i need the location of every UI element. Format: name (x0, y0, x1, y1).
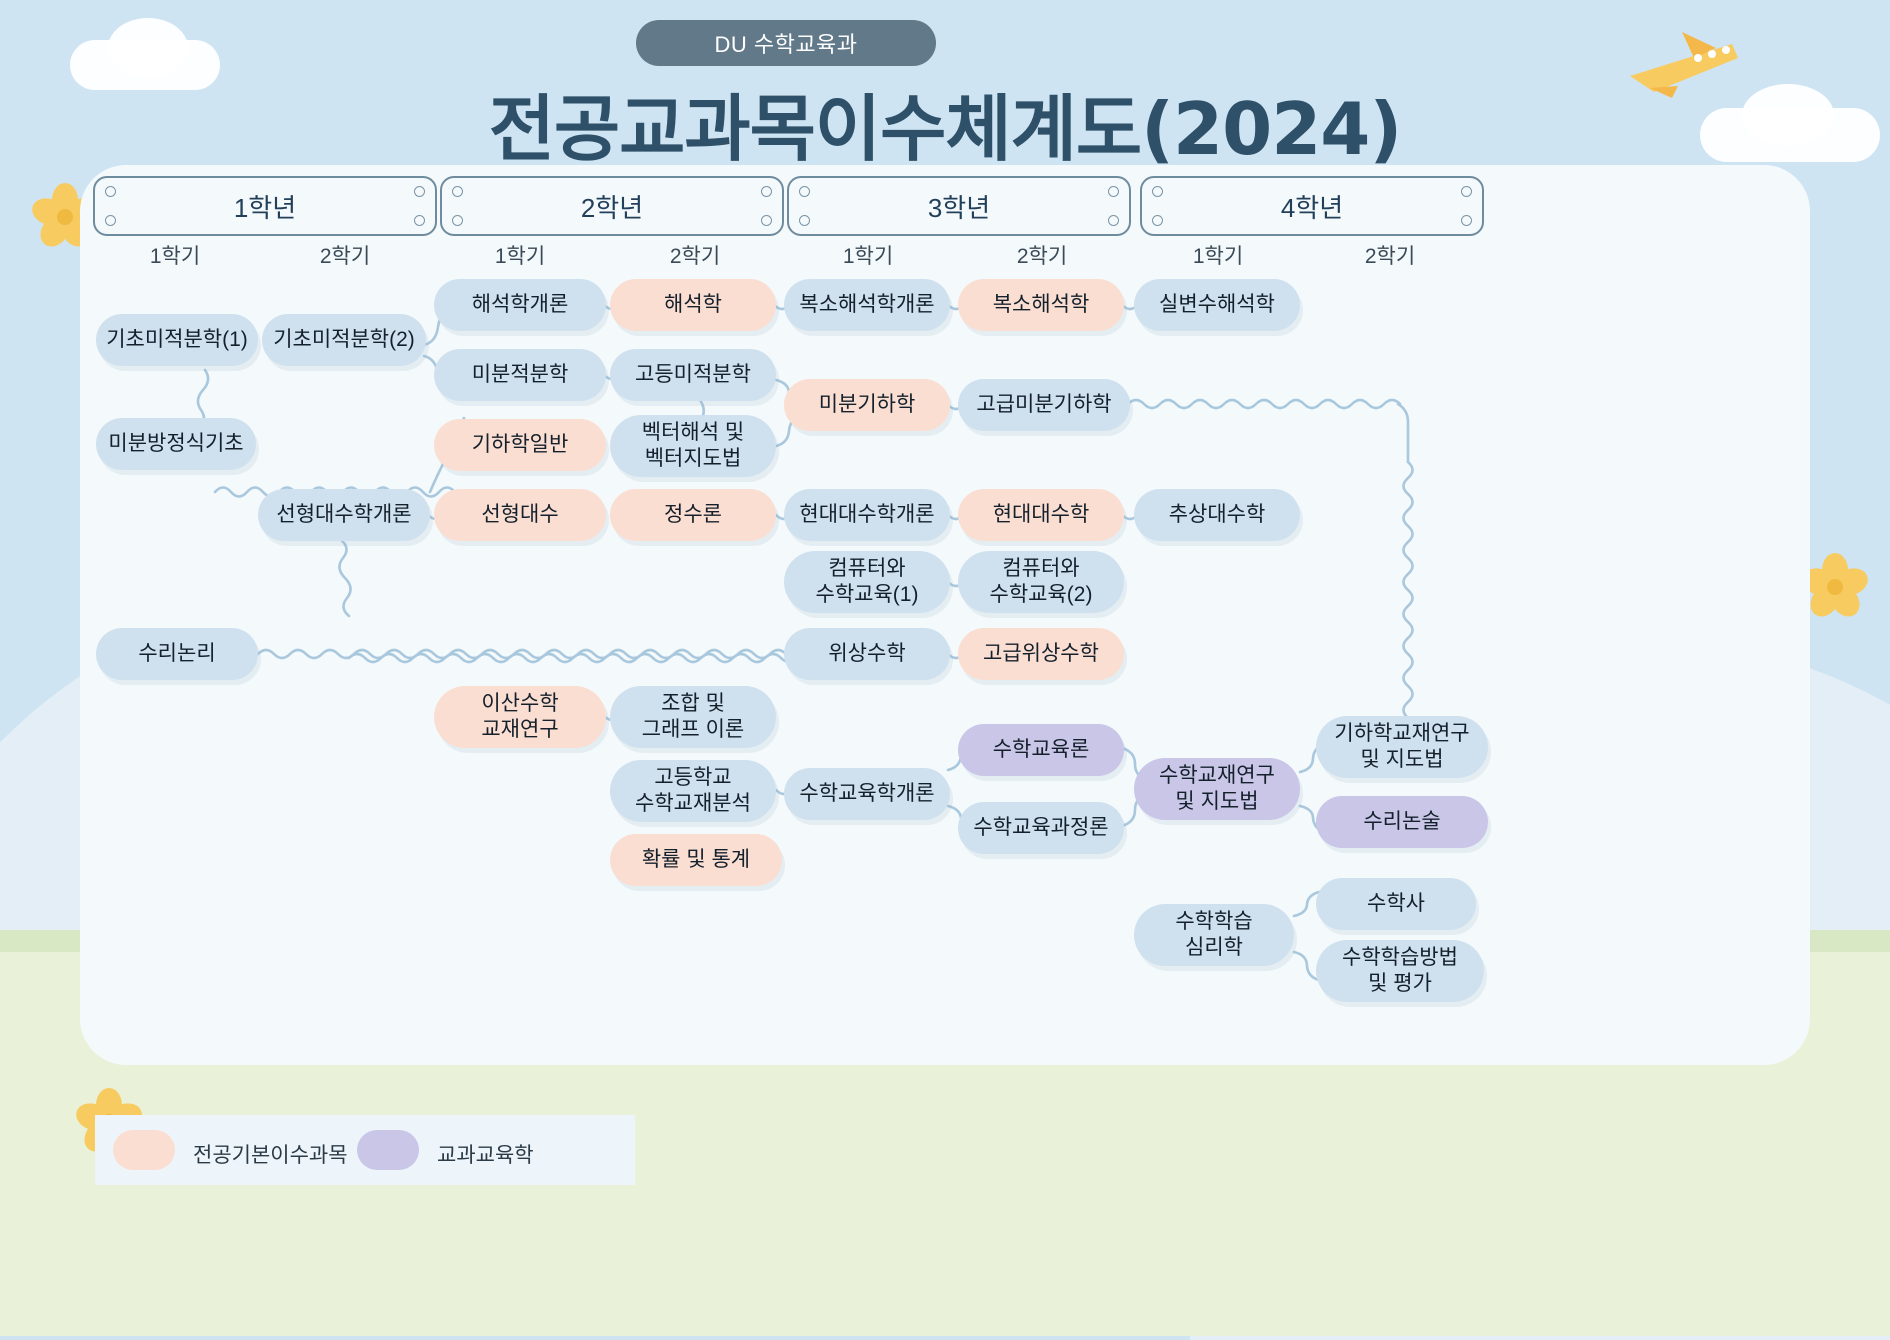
course-label: 조합 및 그래프 이론 (642, 691, 744, 742)
course-node[interactable]: 복소해석학개론 (784, 279, 950, 331)
course-label: 추상대수학 (1169, 502, 1266, 528)
course-label: 선형대수 (481, 502, 558, 528)
course-node[interactable]: 현대대수학개론 (784, 489, 950, 541)
course-node[interactable]: 기초미적분학(1) (96, 314, 258, 366)
course-node[interactable]: 선형대수학개론 (258, 489, 430, 541)
course-node[interactable]: 수학교육론 (958, 724, 1124, 776)
legend-label-pedagogy: 교과교육학 (437, 1139, 534, 1169)
course-label: 컴퓨터와 수학교육(2) (990, 556, 1093, 607)
course-label: 수학사 (1367, 891, 1425, 917)
course-label: 수학교육학개론 (799, 781, 934, 807)
course-node[interactable]: 확률 및 통계 (610, 834, 782, 886)
semester-label-1-2: 2학기 (275, 240, 415, 270)
course-node[interactable]: 수학사 (1316, 878, 1476, 930)
course-node[interactable]: 수리논술 (1316, 796, 1488, 848)
course-node[interactable]: 선형대수 (434, 489, 606, 541)
department-badge: DU 수학교육과 (636, 20, 936, 66)
course-node[interactable]: 고등학교 수학교재분석 (610, 760, 776, 822)
semester-label-3-1: 1학기 (798, 240, 938, 270)
year-box-1: 1학년 (93, 176, 437, 236)
semester-label-2-2: 2학기 (625, 240, 765, 270)
year-label: 4학년 (1281, 188, 1343, 225)
course-node[interactable]: 고급미분기하학 (958, 379, 1130, 431)
course-node[interactable]: 복소해석학 (958, 279, 1124, 331)
page-title: 전공교과목이수체계도(2024) (0, 70, 1890, 175)
course-label: 기하학교재연구 및 지도법 (1334, 721, 1469, 772)
legend-swatch-major-basic (113, 1130, 175, 1170)
course-label: 수학학습 심리학 (1175, 909, 1252, 960)
legend-label-major-basic: 전공기본이수과목 (193, 1139, 348, 1169)
semester-label-4-1: 1학기 (1148, 240, 1288, 270)
course-label: 고급위상수학 (983, 641, 1099, 667)
course-label: 해석학 (664, 292, 722, 318)
course-label: 수학교육과정론 (973, 815, 1108, 841)
course-label: 미분기하학 (819, 392, 916, 418)
course-node[interactable]: 이산수학 교재연구 (434, 686, 606, 748)
course-label: 미분적분학 (472, 362, 569, 388)
course-label: 수학교육론 (993, 737, 1090, 763)
course-node[interactable]: 미분기하학 (784, 379, 950, 431)
course-label: 미분방정식기초 (108, 431, 243, 457)
course-label: 현대대수학 (993, 502, 1090, 528)
course-label: 기초미적분학(2) (273, 327, 415, 353)
course-node[interactable]: 추상대수학 (1134, 489, 1300, 541)
semester-label-1-1: 1학기 (105, 240, 245, 270)
semester-label-3-2: 2학기 (972, 240, 1112, 270)
course-label: 고급미분기하학 (976, 392, 1111, 418)
course-node[interactable]: 수학학습 심리학 (1134, 904, 1294, 966)
course-label: 벡터해석 및 벡터지도법 (642, 420, 744, 471)
course-node[interactable]: 고급위상수학 (958, 628, 1124, 680)
semester-label-2-1: 1학기 (450, 240, 590, 270)
course-node[interactable]: 해석학 (610, 279, 776, 331)
course-node[interactable]: 실변수해석학 (1134, 279, 1300, 331)
year-box-4: 4학년 (1140, 176, 1484, 236)
semester-label-4-2: 2학기 (1320, 240, 1460, 270)
course-node[interactable]: 수리논리 (96, 628, 258, 680)
course-label: 수학교재연구 및 지도법 (1159, 763, 1275, 814)
course-label: 복소해석학 (993, 292, 1090, 318)
course-node[interactable]: 고등미적분학 (610, 349, 776, 401)
course-label: 현대대수학개론 (799, 502, 934, 528)
course-label: 해석학개론 (472, 292, 569, 318)
legend-swatch-pedagogy (357, 1130, 419, 1170)
course-node[interactable]: 컴퓨터와 수학교육(2) (958, 551, 1124, 613)
course-node[interactable]: 수학교재연구 및 지도법 (1134, 758, 1300, 820)
course-node[interactable]: 조합 및 그래프 이론 (610, 686, 776, 748)
course-node[interactable]: 현대대수학 (958, 489, 1124, 541)
course-label: 복소해석학개론 (799, 292, 934, 318)
course-label: 위상수학 (828, 641, 905, 667)
course-label: 고등미적분학 (635, 362, 751, 388)
cloud-icon (108, 18, 188, 78)
course-label: 실변수해석학 (1159, 292, 1275, 318)
course-label: 이산수학 교재연구 (481, 691, 558, 742)
course-node[interactable]: 기하학일반 (434, 419, 606, 471)
year-label: 2학년 (581, 188, 643, 225)
year-label: 3학년 (928, 188, 990, 225)
course-node[interactable]: 수학학습방법 및 평가 (1316, 940, 1484, 1002)
course-node[interactable]: 미분적분학 (434, 349, 606, 401)
course-node[interactable]: 기하학교재연구 및 지도법 (1316, 716, 1488, 778)
course-label: 기하학일반 (472, 432, 569, 458)
course-label: 확률 및 통계 (642, 847, 750, 873)
course-label: 수리논리 (138, 641, 215, 667)
course-node[interactable]: 해석학개론 (434, 279, 606, 331)
course-node[interactable]: 정수론 (610, 489, 776, 541)
course-node[interactable]: 수학교육과정론 (958, 802, 1124, 854)
course-node[interactable]: 위상수학 (784, 628, 950, 680)
course-label: 수리논술 (1363, 809, 1440, 835)
course-label: 정수론 (664, 502, 722, 528)
course-node[interactable]: 벡터해석 및 벡터지도법 (610, 415, 776, 477)
flower-icon (1808, 560, 1862, 614)
course-label: 수학학습방법 및 평가 (1342, 945, 1458, 996)
year-box-3: 3학년 (787, 176, 1131, 236)
course-label: 기초미적분학(1) (106, 327, 248, 353)
course-node[interactable]: 수학교육학개론 (784, 768, 950, 820)
course-label: 컴퓨터와 수학교육(1) (816, 556, 919, 607)
year-box-2: 2학년 (440, 176, 784, 236)
course-label: 선형대수학개론 (276, 502, 411, 528)
year-label: 1학년 (234, 188, 296, 225)
course-node[interactable]: 미분방정식기초 (96, 418, 256, 470)
course-node[interactable]: 기초미적분학(2) (262, 314, 426, 366)
course-node[interactable]: 컴퓨터와 수학교육(1) (784, 551, 950, 613)
legend: 전공기본이수과목 교과교육학 (95, 1115, 635, 1185)
course-label: 고등학교 수학교재분석 (635, 765, 751, 816)
